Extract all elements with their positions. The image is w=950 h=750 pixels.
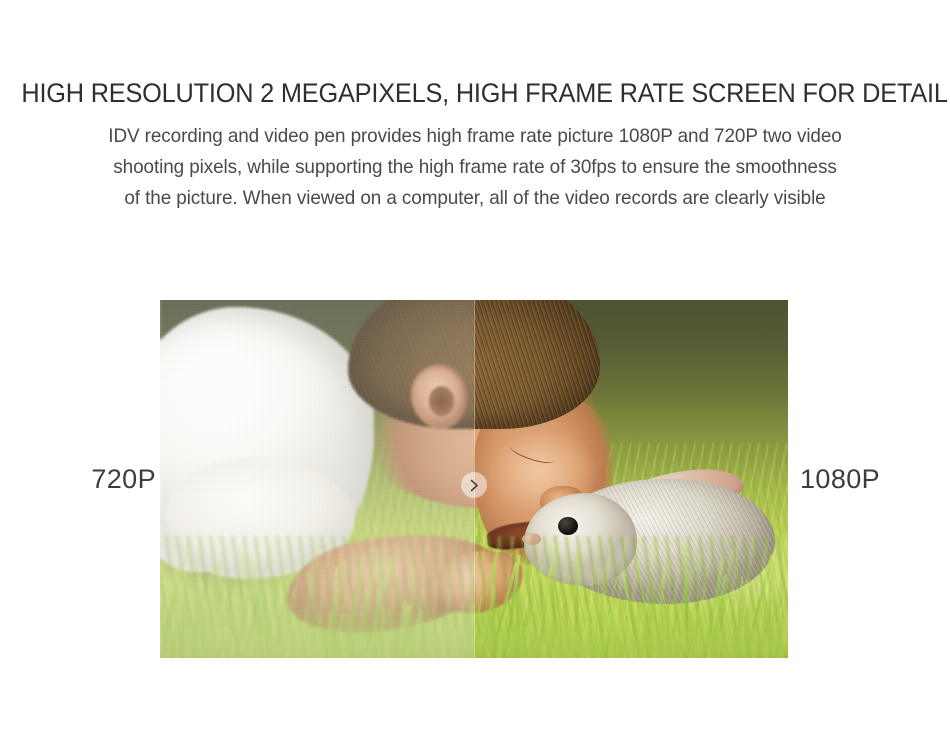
noise-veil xyxy=(160,300,474,658)
resolution-comparison: 720P 1080P xyxy=(0,300,950,658)
description-line-3: of the picture. When viewed on a compute… xyxy=(45,183,904,214)
description-paragraph: IDV recording and video pen provides hig… xyxy=(45,121,904,214)
page-title: HIGH RESOLUTION 2 MEGAPIXELS, HIGH FRAME… xyxy=(21,76,928,110)
description-line-1: IDV recording and video pen provides hig… xyxy=(45,121,904,152)
chevron-right-icon xyxy=(469,479,480,492)
feature-panel: HIGH RESOLUTION 2 MEGAPIXELS, HIGH FRAME… xyxy=(0,0,950,750)
description-line-2: shooting pixels, while supporting the hi… xyxy=(45,152,904,183)
label-720p: 720P xyxy=(60,300,156,658)
side-720p-inner xyxy=(160,300,474,658)
side-720p-overlay xyxy=(160,300,474,658)
comparison-photo[interactable] xyxy=(160,300,788,658)
label-1080p: 1080P xyxy=(800,300,910,658)
photo-stage xyxy=(160,300,788,658)
